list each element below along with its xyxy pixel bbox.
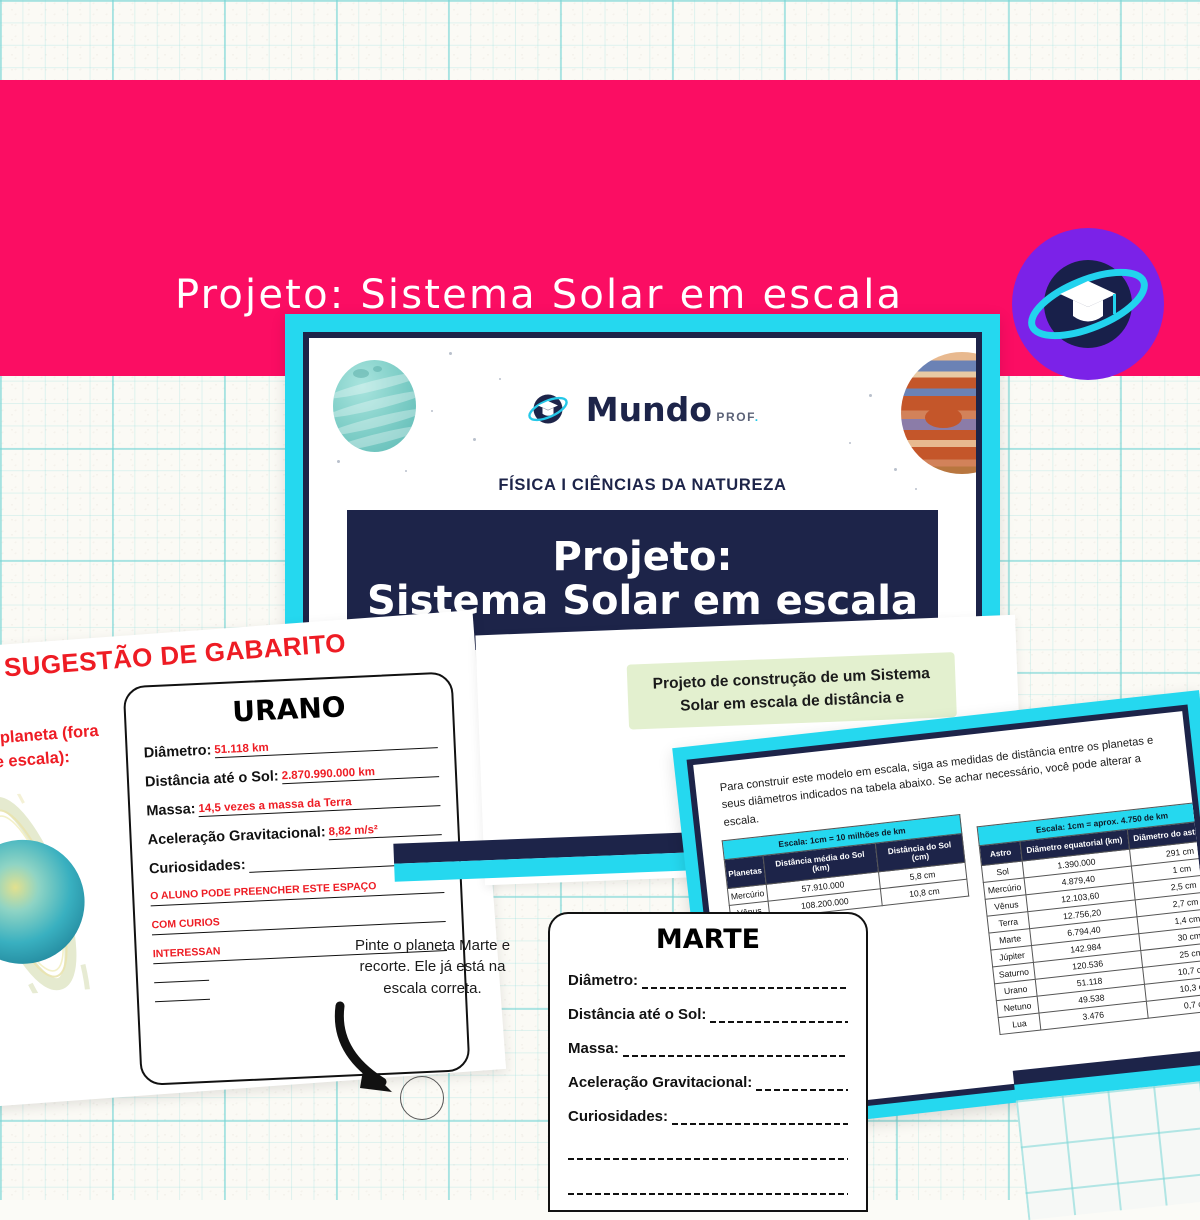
urano-field-label: Diâmetro: bbox=[143, 742, 211, 761]
urano-blank-line bbox=[154, 978, 209, 983]
marte-blank-line bbox=[568, 1182, 848, 1195]
marte-field-blank[interactable] bbox=[642, 976, 848, 989]
marte-field-row: Diâmetro: bbox=[568, 972, 848, 989]
urano-field-label: Distância até o Sol: bbox=[145, 768, 279, 790]
urano-field-row: Distância até o Sol:2.870.990.000 km bbox=[145, 761, 439, 790]
cover-title-line1: Projeto: bbox=[347, 536, 938, 579]
pinte-note: Pinte o planeta Marte e recorte. Ele já … bbox=[325, 935, 540, 999]
urano-field-label: Curiosidades: bbox=[149, 857, 246, 877]
pinte-note-line2: recorte. Ele já está na bbox=[360, 958, 506, 975]
urano-field-label: Aceleração Gravitacional: bbox=[147, 824, 326, 848]
subject-line: FÍSICA I CIÊNCIAS DA NATUREZA bbox=[309, 476, 976, 495]
marte-field-label: Distância até o Sol: bbox=[568, 1006, 706, 1023]
marte-card: MARTE Diâmetro:Distância até o Sol:Massa… bbox=[548, 912, 868, 1212]
marte-field-blank[interactable] bbox=[672, 1112, 848, 1125]
urano-field-answer[interactable]: 51.118 km bbox=[214, 734, 438, 758]
marte-field-blank[interactable] bbox=[710, 1010, 848, 1023]
table-col-header: Planetas bbox=[724, 855, 766, 888]
table-cell: Lua bbox=[998, 1013, 1040, 1034]
logo-subtitle: PROF. bbox=[716, 410, 759, 424]
urano-answer-line[interactable]: COM CURIOS bbox=[151, 906, 445, 935]
mars-cutout-circle bbox=[400, 1076, 444, 1120]
marte-field-label: Massa: bbox=[568, 1040, 619, 1057]
urano-field-answer[interactable]: 8,82 m/s² bbox=[328, 821, 441, 840]
banner-title: Projeto: Sistema Solar em escala bbox=[175, 272, 935, 318]
marte-field-label: Diâmetro: bbox=[568, 972, 638, 989]
logo-wordmark: Mundo bbox=[586, 390, 712, 429]
brand-badge bbox=[1012, 228, 1164, 380]
urano-blank-line bbox=[155, 997, 210, 1002]
marte-field-blank[interactable] bbox=[623, 1044, 848, 1057]
gabarito-subtext-line2: de escala): bbox=[0, 748, 70, 772]
marte-field-label: Aceleração Gravitacional: bbox=[568, 1074, 752, 1091]
paper-strip-right bbox=[1013, 1050, 1200, 1220]
urano-field-answer[interactable]: 2.870.990.000 km bbox=[281, 763, 439, 784]
urano-title: URANO bbox=[125, 686, 452, 734]
marte-field-row: Curiosidades: bbox=[568, 1108, 848, 1125]
urano-field-answer[interactable]: 14,5 vezes a massa da Terra bbox=[198, 792, 440, 817]
marte-field-label: Curiosidades: bbox=[568, 1108, 668, 1125]
instruction-highlight: Projeto de construção de um Sistema Sola… bbox=[627, 652, 957, 729]
marte-field-row: Aceleração Gravitacional: bbox=[568, 1074, 848, 1091]
marte-rows: Diâmetro:Distância até o Sol:Massa:Acele… bbox=[550, 972, 866, 1125]
diameter-scale-table: Escala: 1cm = aprox. 4.750 de kmAstroDiâ… bbox=[977, 799, 1200, 1035]
marte-blank-line bbox=[568, 1147, 848, 1160]
marte-title: MARTE bbox=[550, 924, 866, 955]
distance-scale-table: Escala: 1cm = 10 milhões de kmPlanetasDi… bbox=[722, 814, 970, 923]
urano-field-label: Massa: bbox=[146, 801, 196, 819]
marte-field-row: Distância até o Sol: bbox=[568, 1006, 848, 1023]
pinte-note-line1: Pinte o planeta Marte e bbox=[355, 937, 510, 954]
gabarito-subtext-line1: es do planeta (fora bbox=[0, 722, 99, 751]
pinte-note-line3: escala correta. bbox=[383, 980, 481, 997]
instruction-line2: Solar em escala de distância e bbox=[680, 689, 905, 715]
mundo-prof-logo: Mundo PROF. bbox=[309, 386, 976, 432]
marte-field-row: Massa: bbox=[568, 1040, 848, 1057]
marte-field-blank[interactable] bbox=[756, 1078, 848, 1091]
gabarito-subtext: es do planeta (fora de escala): bbox=[0, 717, 143, 782]
uranus-planet-icon bbox=[0, 786, 134, 1000]
urano-field-row: Diâmetro:51.118 km bbox=[143, 732, 437, 761]
logo-planet-cap-icon bbox=[525, 386, 571, 432]
instruction-line1: Projeto de construção de um Sistema bbox=[652, 665, 930, 693]
urano-field-row: Massa:14,5 vezes a massa da Terra bbox=[146, 790, 440, 819]
planet-graduation-cap-icon bbox=[1012, 228, 1164, 380]
